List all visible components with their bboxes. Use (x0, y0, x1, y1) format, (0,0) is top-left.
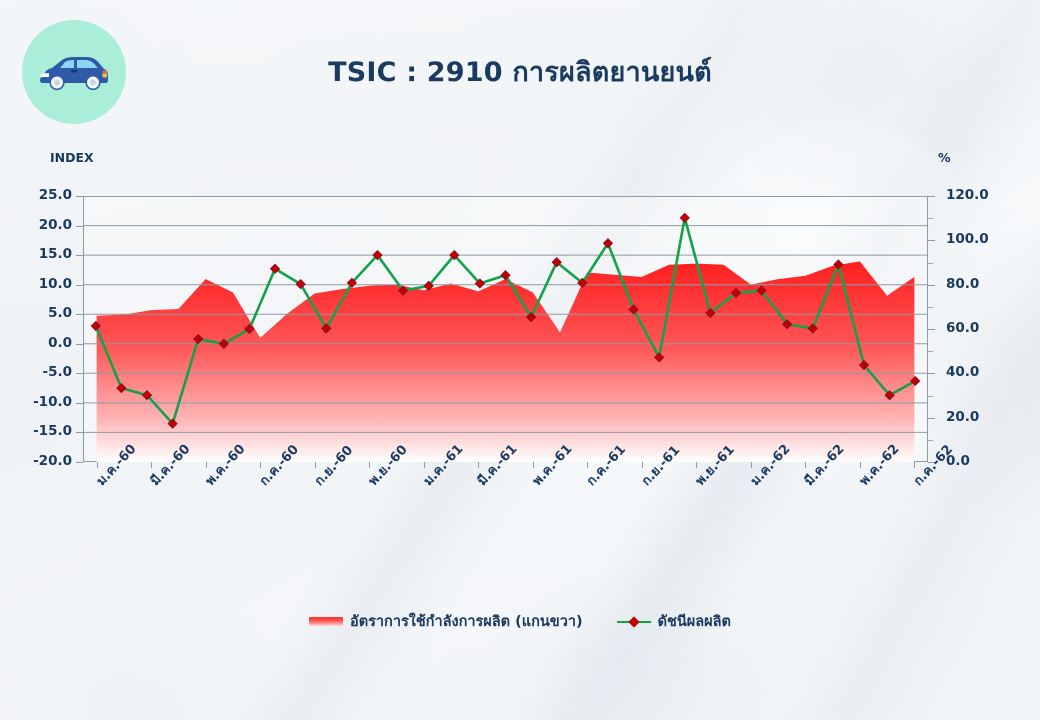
left-axis-title: INDEX (50, 150, 94, 165)
x-axis-tick (860, 462, 861, 468)
y2-axis-minor-tick (928, 351, 933, 352)
x-axis-tick (587, 462, 588, 468)
y-axis-tick (76, 403, 83, 404)
y-axis-tick-label: 5.0 (6, 305, 72, 321)
y2-axis-tick (928, 196, 935, 197)
y-axis-tick (76, 314, 83, 315)
y-axis-tick-label: 20.0 (6, 217, 72, 233)
y-axis-tick (76, 196, 83, 197)
y-axis-tick (76, 373, 83, 374)
x-axis-tick (914, 462, 915, 468)
y-axis-tick-label: 10.0 (6, 276, 72, 292)
chart-canvas (83, 196, 928, 462)
y-axis-tick (76, 255, 83, 256)
y-axis-tick (76, 285, 83, 286)
y-axis-tick-label: -10.0 (6, 394, 72, 410)
x-axis-tick (151, 462, 152, 468)
y2-axis-minor-tick (928, 396, 933, 397)
area-swatch-icon (309, 617, 343, 626)
y-axis-tick-label: -15.0 (6, 423, 72, 439)
y-axis-tick-label: -20.0 (6, 453, 72, 469)
y2-axis-tick (928, 285, 935, 286)
y2-axis-tick-label: 120.0 (946, 187, 1026, 203)
y2-axis-minor-tick (928, 218, 933, 219)
plot-area (83, 196, 928, 462)
x-axis-tick (642, 462, 643, 468)
y-axis-tick (76, 226, 83, 227)
y-axis-tick-label: 15.0 (6, 246, 72, 262)
y2-axis-tick (928, 418, 935, 419)
y-axis-tick (76, 344, 83, 345)
chart-legend: อัตราการใช้กำลังการผลิต (แกนขวา) ดัชนีผล… (0, 610, 1040, 633)
y2-axis-minor-tick (928, 263, 933, 264)
legend-item-capacity[interactable]: อัตราการใช้กำลังการผลิต (แกนขวา) (309, 610, 583, 633)
y2-axis-tick (928, 329, 935, 330)
y2-axis-tick-label: 20.0 (946, 409, 1026, 425)
x-axis-tick (206, 462, 207, 468)
line-diamond-swatch-icon (617, 616, 651, 627)
legend-label-capacity: อัตราการใช้กำลังการผลิต (แกนขวา) (350, 610, 583, 633)
x-axis-tick (751, 462, 752, 468)
y2-axis-tick-label: 100.0 (946, 231, 1026, 247)
x-axis-tick (260, 462, 261, 468)
x-axis-tick (533, 462, 534, 468)
y-axis-tick-label: 0.0 (6, 335, 72, 351)
y2-axis-tick (928, 240, 935, 241)
chart-page: TSIC : 2910 การผลิตยานยนต์ INDEX % (0, 0, 1040, 720)
y-axis-tick-label: 25.0 (6, 187, 72, 203)
x-axis-tick (696, 462, 697, 468)
x-axis-tick (315, 462, 316, 468)
y2-axis-minor-tick (928, 307, 933, 308)
y2-axis-tick-label: 60.0 (946, 320, 1026, 336)
page-title: TSIC : 2910 การผลิตยานยนต์ (0, 50, 1040, 93)
right-axis-title: % (938, 150, 951, 165)
legend-label-index: ดัชนีผลผลิต (658, 610, 731, 633)
legend-item-index[interactable]: ดัชนีผลผลิต (617, 610, 731, 633)
y-axis-tick-label: -5.0 (6, 364, 72, 380)
y2-axis-tick-label: 40.0 (946, 364, 1026, 380)
y-axis-tick (76, 432, 83, 433)
y-axis-tick (76, 462, 83, 463)
y2-axis-minor-tick (928, 440, 933, 441)
x-axis-tick (424, 462, 425, 468)
y2-axis-tick-label: 0.0 (946, 453, 1026, 469)
x-axis-tick (478, 462, 479, 468)
y2-axis-tick-label: 80.0 (946, 276, 1026, 292)
x-axis-tick (805, 462, 806, 468)
x-axis-tick (97, 462, 98, 468)
data-point (680, 213, 689, 222)
x-axis-tick (369, 462, 370, 468)
y2-axis-tick (928, 373, 935, 374)
